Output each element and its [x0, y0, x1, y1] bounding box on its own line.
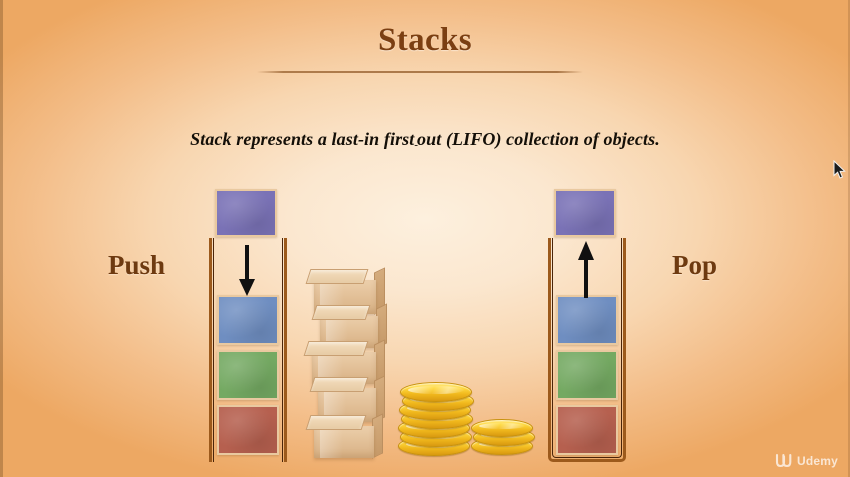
pop-block-blue: [556, 295, 618, 345]
block-face: [219, 407, 277, 453]
subtitle-part-2: out (LIFO) collection of objects.: [417, 129, 660, 149]
block-face: [558, 352, 616, 398]
block-face: [558, 297, 616, 343]
block-face: [219, 352, 277, 398]
block-face: [556, 191, 614, 235]
box-front: [314, 426, 374, 458]
pop-block-green: [556, 350, 618, 400]
box-lid: [306, 415, 367, 430]
gold-coin-piles: [398, 375, 538, 455]
mouse-pointer-icon: [833, 160, 847, 180]
cardboard-box-stack: [310, 280, 400, 460]
udemy-watermark: Udemy: [775, 453, 838, 468]
box-lid: [306, 269, 369, 284]
box-lid: [312, 305, 371, 320]
box-lid: [304, 341, 369, 356]
push-incoming-block-purple: [215, 189, 277, 237]
pop-label: Pop: [672, 250, 717, 281]
cardboard-box: [314, 426, 374, 458]
udemy-watermark-text: Udemy: [797, 454, 838, 468]
slide-canvas: Stacks Stack represents a last-in first-…: [0, 0, 850, 477]
udemy-logo-icon: [775, 453, 792, 468]
push-label: Push: [108, 250, 165, 281]
box-lid: [310, 377, 369, 392]
subtitle-part-1: Stack represents a last-in first: [190, 129, 414, 149]
title-divider: [257, 71, 583, 73]
pop-outgoing-block-purple: [554, 189, 616, 237]
block-face: [558, 407, 616, 453]
box-seam: [320, 426, 343, 458]
push-block-blue: [217, 295, 279, 345]
push-block-red: [217, 405, 279, 455]
block-face: [217, 191, 275, 235]
pop-block-red: [556, 405, 618, 455]
push-arrow-down-icon: [236, 245, 258, 297]
pop-arrow-up-icon: [575, 240, 597, 298]
coin: [400, 382, 472, 402]
subtitle-text: Stack represents a last-in first-out (LI…: [0, 129, 850, 151]
push-block-green: [217, 350, 279, 400]
page-title: Stacks: [0, 22, 850, 59]
coin: [471, 419, 533, 437]
block-face: [219, 297, 277, 343]
